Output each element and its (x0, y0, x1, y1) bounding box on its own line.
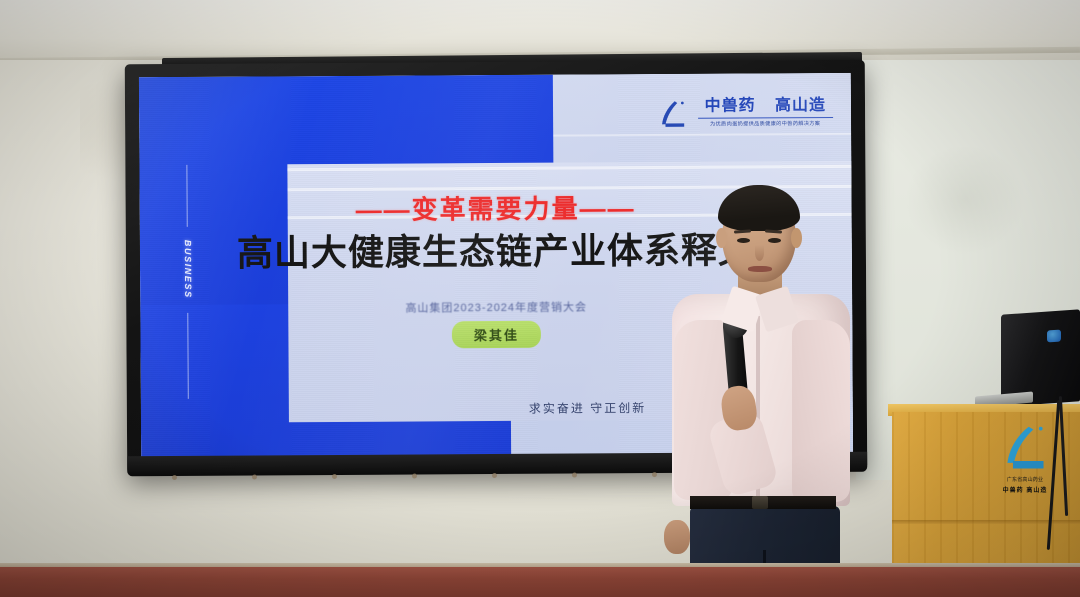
brand-tagline: 为优质肉蛋奶提供品质健康的中兽药解决方案 (710, 119, 820, 127)
presenter-mouth (748, 266, 772, 272)
presenter-ear-left (716, 228, 727, 248)
presentation-room-photo: BUSINESS 中兽药 高山造 (0, 0, 1080, 597)
laptop-brand-icon (1047, 330, 1061, 343)
gaoshan-l-logo-icon (655, 98, 689, 132)
presenter-other-hand (664, 520, 690, 554)
slide-slogan: 求实奋进 守正创新 (529, 399, 646, 417)
presenter-eye-left (737, 238, 750, 243)
presenter-nose (755, 245, 764, 261)
belt-buckle (752, 496, 768, 509)
brand-logo-text: 中兽药 高山造 为优质肉蛋奶提供品质健康的中兽药解决方案 (697, 97, 833, 127)
gaoshan-l-logo-icon (997, 424, 1053, 474)
presenter (660, 190, 870, 597)
brand-logo-chinese: 中兽药 高山造 (697, 97, 833, 115)
baseboard (0, 567, 1080, 597)
brand-logo: 中兽药 高山造 为优质肉蛋奶提供品质健康的中兽药解决方案 (655, 97, 833, 132)
presenter-hair (718, 185, 800, 231)
presenter-right-arm (792, 320, 850, 502)
brand-word-right: 高山造 (775, 97, 826, 114)
brand-logo-rule (698, 117, 833, 119)
brand-word-left: 中兽药 (704, 97, 755, 114)
presenter-ear-right (791, 228, 802, 248)
wall-stain-right (905, 145, 1025, 255)
presenter-eye-right (768, 238, 781, 243)
speaker-name-badge: 梁其佳 (452, 321, 541, 349)
laptop-lid[interactable] (1001, 309, 1080, 407)
